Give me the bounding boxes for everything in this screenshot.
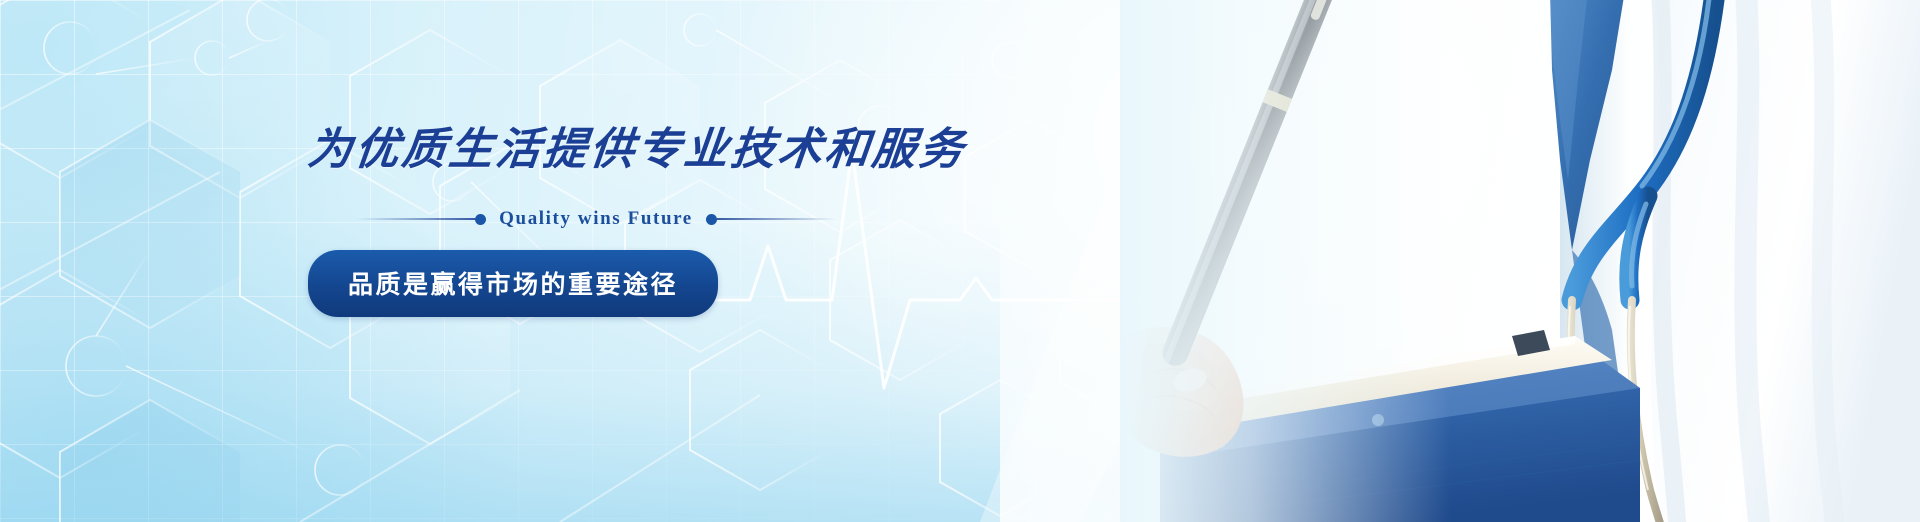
tagline-row: Quality wins Future	[356, 208, 836, 230]
tagline-left-rule	[356, 218, 475, 220]
quality-slogan-button[interactable]: 品质是赢得市场的重要途径	[308, 250, 718, 317]
hero-banner: 为优质生活提供专业技术和服务 Quality wins Future 品质是赢得…	[0, 0, 1920, 522]
tagline-right-dot	[706, 214, 717, 225]
doctor-photo	[1120, 0, 1920, 522]
banner-content: 为优质生活提供专业技术和服务 Quality wins Future 品质是赢得…	[308, 126, 1068, 317]
banner-headline: 为优质生活提供专业技术和服务	[305, 126, 1070, 174]
banner-tagline: Quality wins Future	[486, 208, 706, 230]
tagline-left-dot	[475, 214, 486, 225]
photo-left-fade	[1120, 0, 1450, 522]
tagline-right-rule	[717, 218, 836, 220]
